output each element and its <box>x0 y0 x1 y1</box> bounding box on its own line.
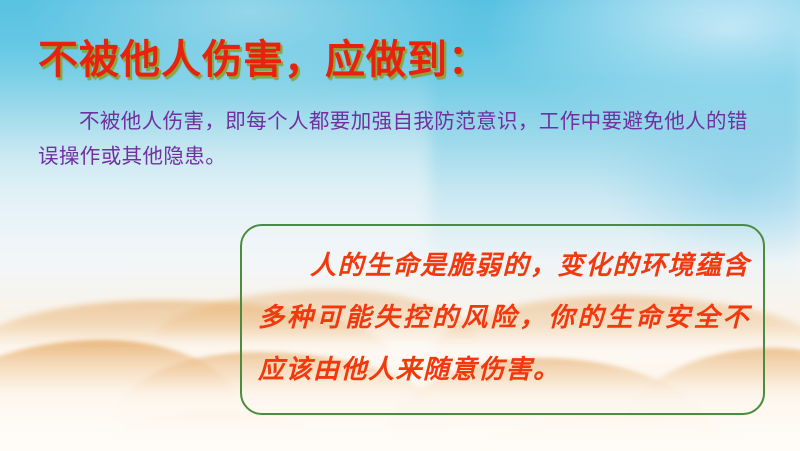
body-paragraph: 不被他人伤害，即每个人都要加强自我防范意识，工作中要避免他人的错误操作或其他隐患… <box>38 104 764 175</box>
quote-text: 人的生命是脆弱的，变化的环境蕴含多种可能失控的风险，你的生命安全不应该由他人来随… <box>258 240 750 396</box>
page-title: 不被他人伤害，应做到： <box>38 38 489 82</box>
slide-canvas: 不被他人伤害，应做到： 不被他人伤害，即每个人都要加强自我防范意识，工作中要避免… <box>0 0 800 451</box>
